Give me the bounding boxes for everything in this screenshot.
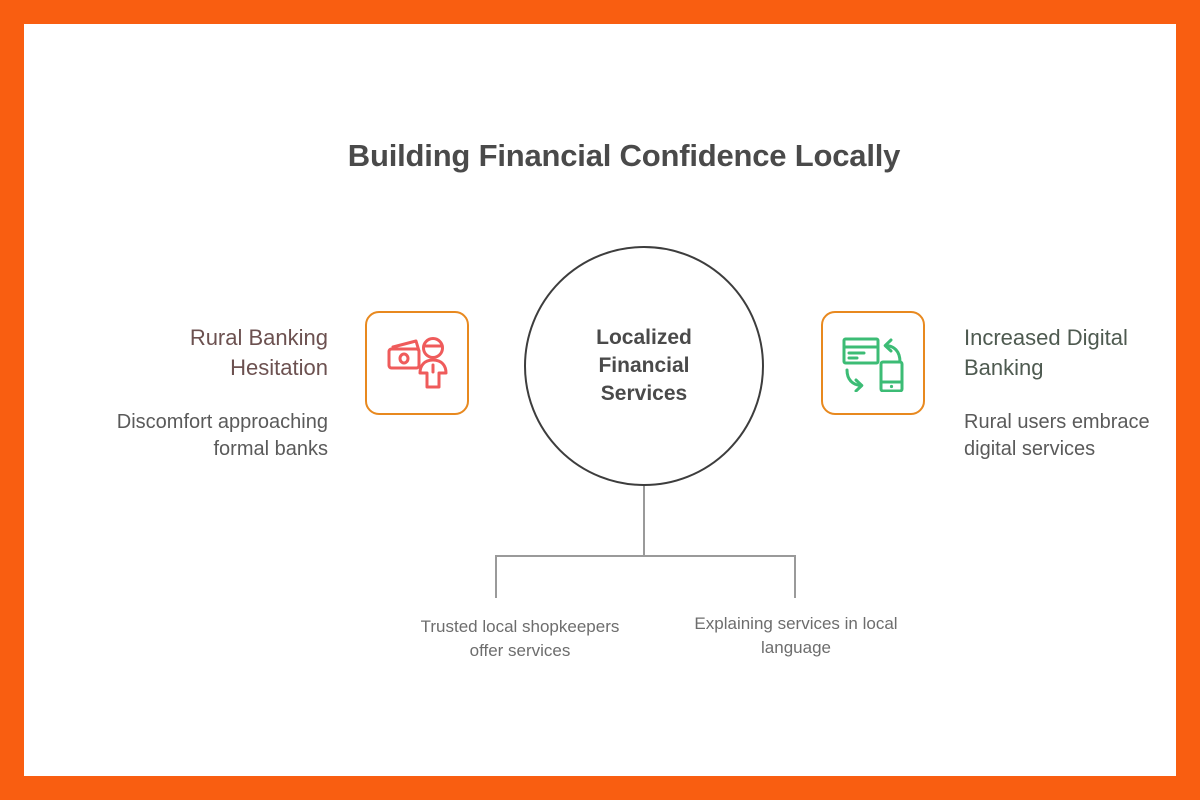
card-phone-exchange-icon [842,334,904,392]
center-node[interactable]: Localized Financial Services [524,246,764,486]
branch-label-left: Trusted local shopkeepers offer services [416,615,624,663]
left-description: Discomfort approaching formal banks [116,409,328,464]
connector-horizontal [495,555,796,557]
branch-label-right: Explaining services in local language [692,612,900,660]
right-icon-box[interactable] [821,311,925,415]
left-text-block: Rural Banking Hesitation Discomfort appr… [116,323,328,464]
orange-frame: Building Financial Confidence Locally Ru… [0,0,1200,800]
right-heading: Increased Digital Banking [964,323,1176,383]
left-heading: Rural Banking Hesitation [116,323,328,383]
connector-right-drop [794,555,796,598]
right-description: Rural users embrace digital services [964,409,1176,464]
right-text-block: Increased Digital Banking Rural users em… [964,323,1176,464]
diagram-canvas: Building Financial Confidence Locally Ru… [24,24,1176,776]
connector-left-drop [495,555,497,598]
center-node-label: Localized Financial Services [569,324,719,407]
left-icon-box[interactable] [365,311,469,415]
cash-and-rural-person-icon [386,335,448,391]
page-title: Building Financial Confidence Locally [24,138,1200,174]
connector-stem [643,486,645,557]
